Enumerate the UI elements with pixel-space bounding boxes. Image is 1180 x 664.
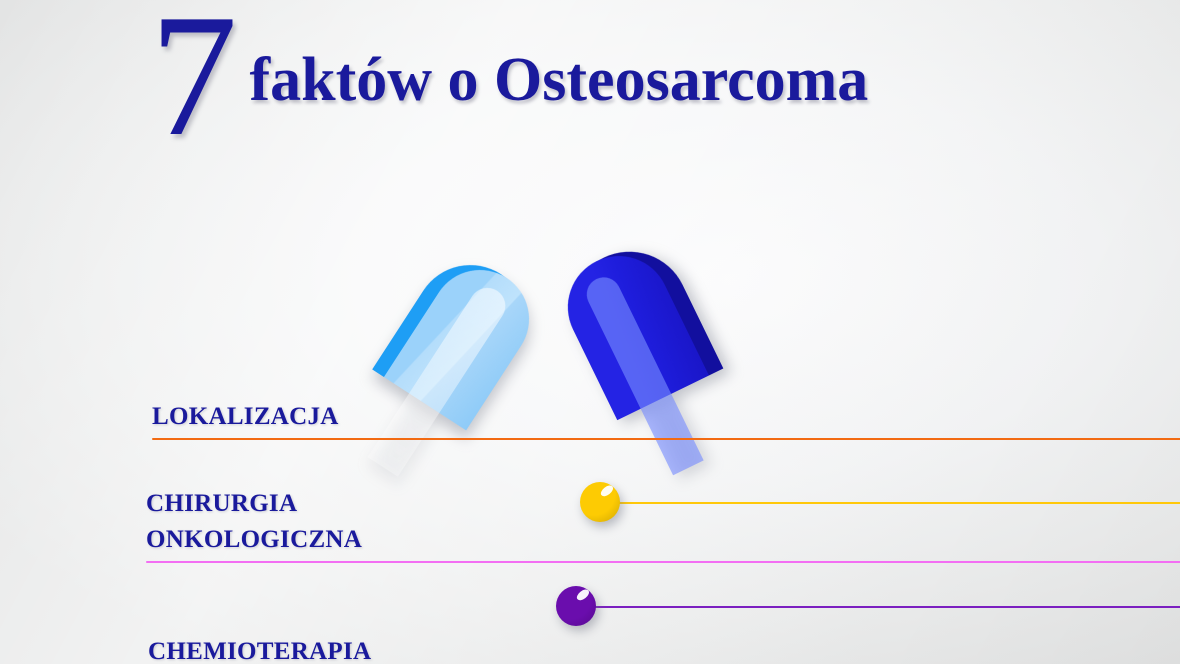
page-title-text: faktów o Osteosarcoma	[250, 45, 869, 116]
infographic-slide: 7 faktów o Osteosarcoma LOKALIZACJA CZYN…	[0, 0, 1180, 664]
page-title: 7 faktów o Osteosarcoma	[150, 8, 1180, 138]
fact-label: LECZENIE INTERDYSCYPLINARNE	[576, 531, 1180, 602]
fact-count-number: 7	[150, 0, 236, 150]
fact-bead-icon	[556, 586, 596, 626]
fact-label: CHEMIOTERAPIA	[148, 634, 1180, 664]
fact-rule	[576, 606, 1180, 608]
capsule-left-gloss	[368, 281, 513, 477]
capsule-right-half-icon	[551, 232, 724, 420]
capsule-right-face	[551, 239, 709, 420]
